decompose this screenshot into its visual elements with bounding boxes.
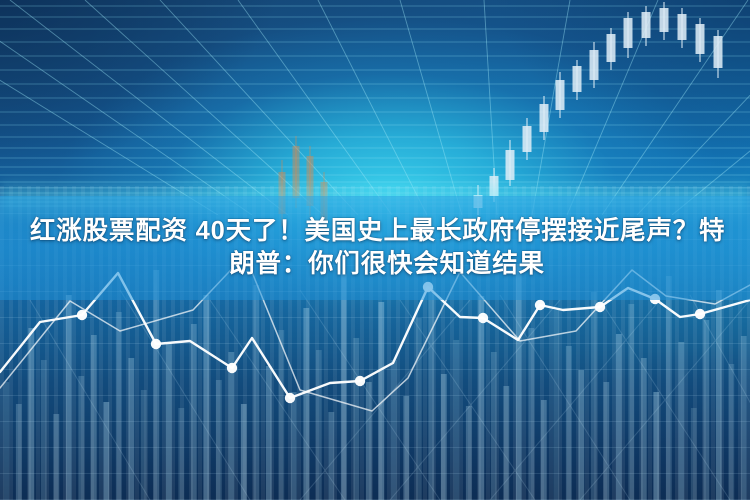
headline-line-1: 红涨股票配资 40天了！美国史上最长政府停摆接近尾声？特: [30, 216, 725, 247]
grid-horizontal-lines: [0, 6, 750, 206]
finance-news-banner: 红涨股票配资 40天了！美国史上最长政府停摆接近尾声？特 朗普：你们很快会知道结…: [0, 0, 750, 500]
headline-block: 红涨股票配资 40天了！美国史上最长政府停摆接近尾声？特 朗普：你们很快会知道结…: [0, 196, 750, 300]
headline-line-2: 朗普：你们很快会知道结果: [229, 249, 545, 280]
